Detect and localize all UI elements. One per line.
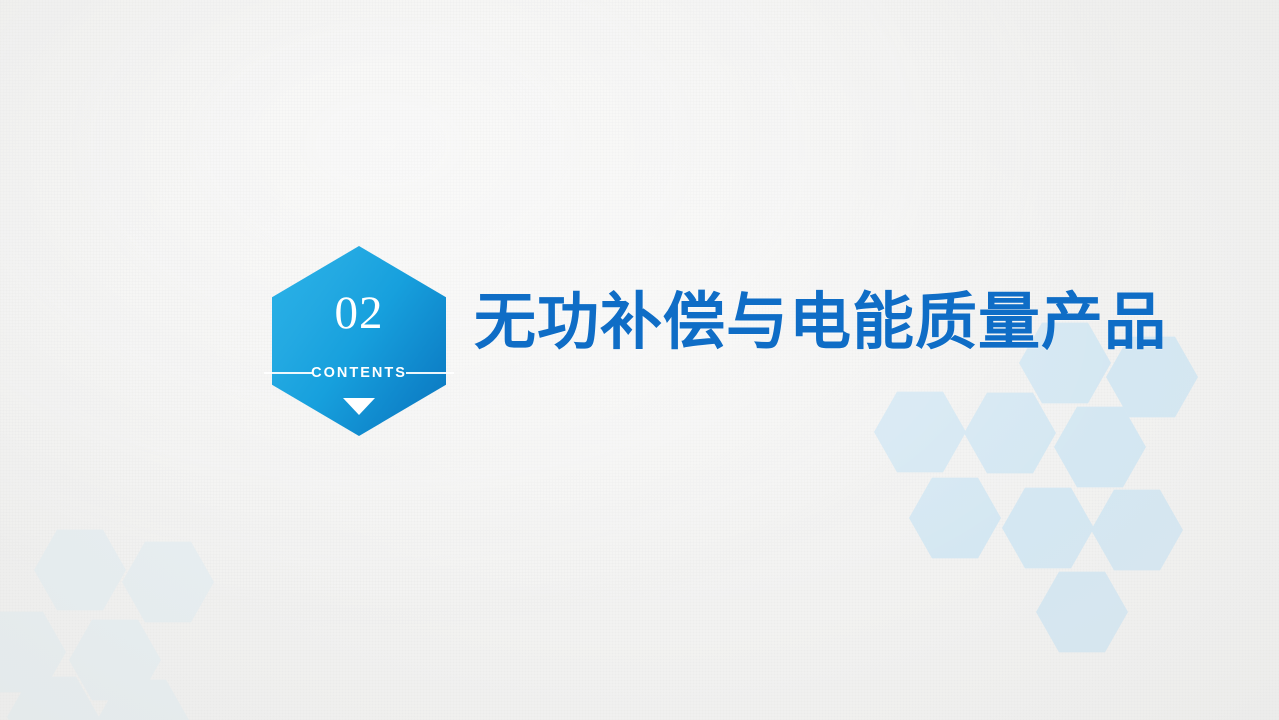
hexagon-decor-right-2	[874, 390, 966, 474]
hexagon-decor-left-2	[0, 610, 66, 694]
hexagon-decor-right-8	[1036, 570, 1128, 654]
badge-caption-text: CONTENTS	[305, 365, 413, 381]
hexagon-decor-left-5	[97, 678, 189, 720]
hexagon-decor-left-3	[69, 618, 161, 702]
hexagon-decor-right-5	[909, 476, 1001, 560]
section-number-badge: 02 CONTENTS	[272, 246, 446, 436]
slide-canvas: 02 CONTENTS 无功补偿与电能质量产品	[0, 0, 1279, 720]
hexagon-decor-right-6	[1002, 486, 1094, 570]
triangle-down-icon	[343, 398, 375, 415]
section-title: 无功补偿与电能质量产品	[474, 285, 1167, 361]
section-number: 02	[272, 290, 446, 337]
hexagon-decor-right-3	[964, 391, 1056, 475]
badge-caption: CONTENTS	[272, 363, 446, 383]
hexagon-decor-left-0	[34, 528, 126, 612]
hexagon-decor-left-4	[7, 675, 99, 720]
hexagon-decor-right-4	[1054, 405, 1146, 489]
hexagon-decor-left-1	[122, 540, 214, 624]
hexagon-decor-right-7	[1091, 488, 1183, 572]
